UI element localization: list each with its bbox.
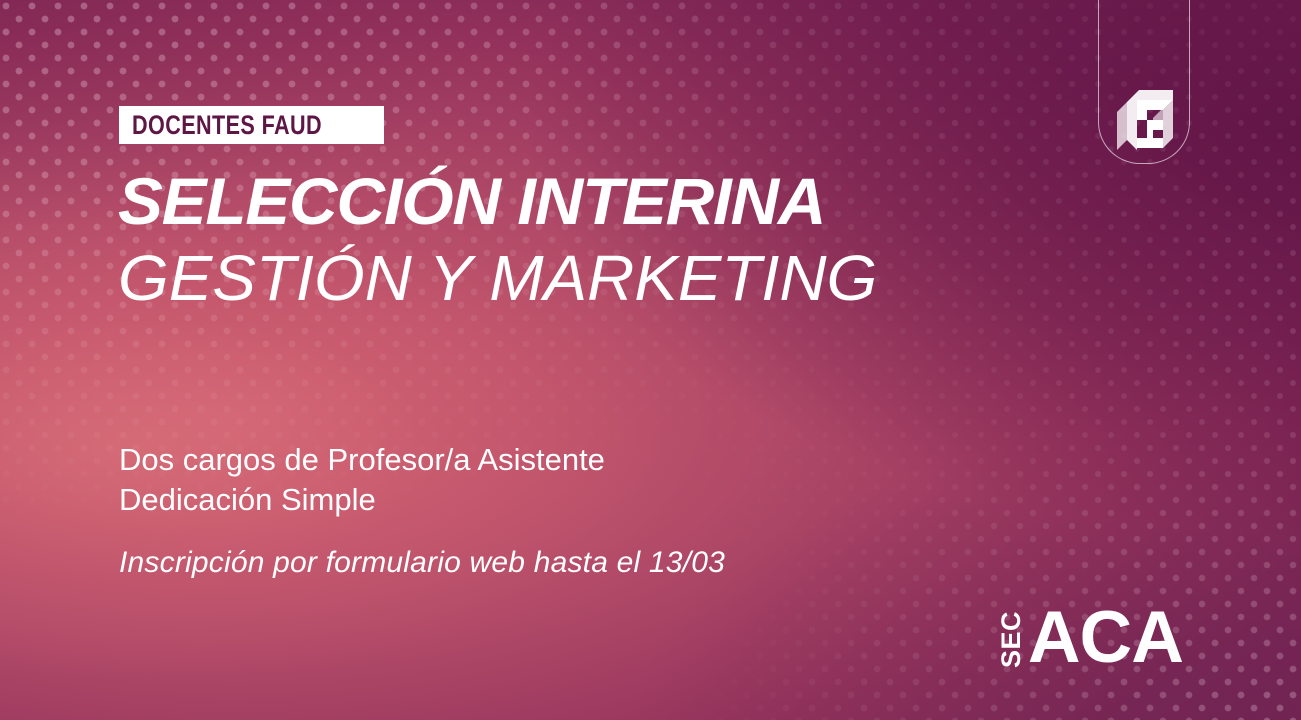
docentes-faud-badge: DOCENTES FAUD (119, 106, 384, 144)
body-line-dedication: Dedicación Simple (119, 480, 605, 520)
seal-prefix: SEC (998, 609, 1025, 668)
headline-primary: SELECCIÓN INTERINA (118, 168, 825, 234)
headline-secondary: GESTIÓN Y MARKETING (118, 246, 877, 310)
sec-aca-lockup: SEC ACA (998, 608, 1183, 668)
badge-label: DOCENTES FAUD (132, 112, 322, 139)
poster-canvas: DOCENTES FAUD SELECCIÓN INTERINA GESTIÓN… (0, 0, 1301, 720)
deadline-text: Inscripción por formulario web hasta el … (119, 546, 725, 580)
faud-logo-icon (1117, 90, 1173, 150)
seal-main: ACA (1028, 608, 1183, 668)
body-line-positions: Dos cargos de Profesor/a Asistente (119, 440, 605, 480)
body-text-block: Dos cargos de Profesor/a Asistente Dedic… (119, 440, 605, 519)
